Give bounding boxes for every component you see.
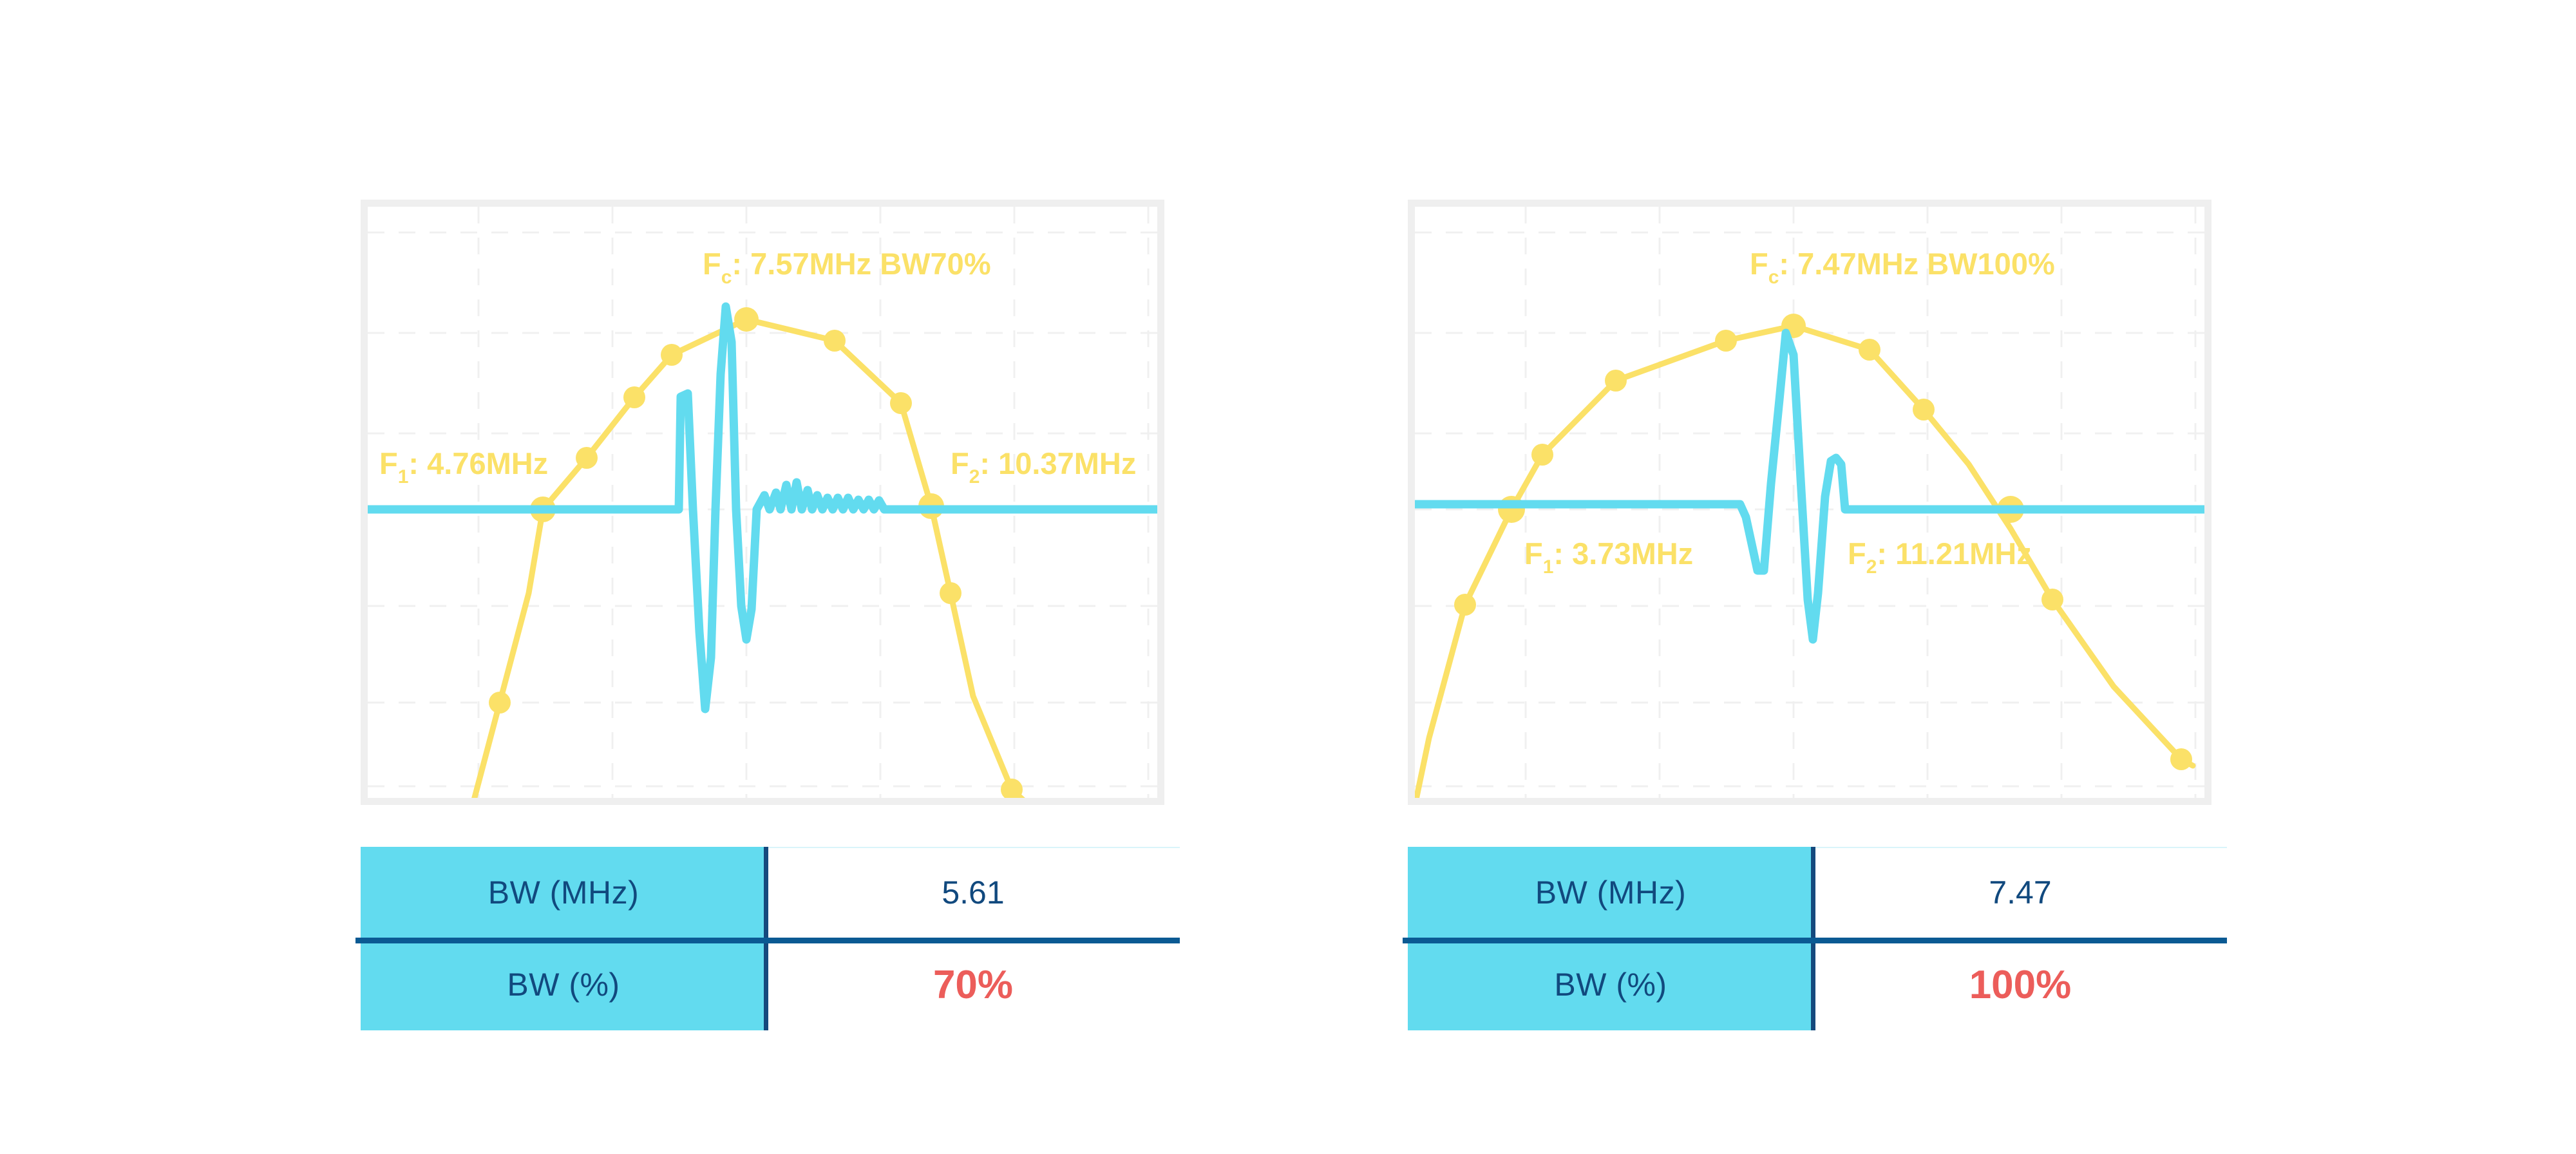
- bw-pct-value: 70%: [766, 939, 1180, 1030]
- pulse-waveform-left: [368, 307, 1157, 709]
- annotation-f2-left: F2: 10.37MHz: [951, 446, 1136, 487]
- chart-module-right: Fc: 7.47MHz BW100% F1: 3.73MHz F2: 11.21…: [1408, 200, 2227, 1030]
- table-middle-rule: [1403, 938, 2227, 943]
- table-row: BW (%) 70%: [361, 939, 1180, 1030]
- bw-pct-label: BW (%): [1408, 939, 1814, 1030]
- annotation-f1-right-sub: 1: [1543, 556, 1554, 578]
- spectrum-svg-left: Fc: 7.57MHz BW70% F1: 4.76MHz F2: 10.37M…: [368, 207, 1157, 798]
- bw-mhz-value: 7.47: [1814, 847, 2227, 938]
- table-row: BW (MHz) 7.47: [1408, 847, 2227, 938]
- bw-mhz-label: BW (MHz): [361, 847, 766, 938]
- bw-mhz-value: 5.61: [766, 847, 1180, 938]
- annotation-f2-right-sub: 2: [1866, 556, 1877, 578]
- table-middle-rule: [355, 938, 1180, 943]
- bw-table-right: BW (MHz) 7.47 BW (%) 100%: [1408, 847, 2227, 1030]
- annotation-f2-left-prefix: F: [951, 446, 969, 480]
- annotation-fc-left-sub: c: [721, 267, 732, 288]
- annotation-f2-left-sub: 2: [969, 466, 980, 487]
- bw-table-left: BW (MHz) 5.61 BW (%) 70%: [361, 847, 1180, 1030]
- annotation-f1-right-prefix: F: [1524, 536, 1543, 571]
- table-row: BW (MHz) 5.61: [361, 847, 1180, 938]
- spectrum-svg-right: Fc: 7.47MHz BW100% F1: 3.73MHz F2: 11.21…: [1415, 207, 2204, 798]
- chart-frame-right: Fc: 7.47MHz BW100% F1: 3.73MHz F2: 11.21…: [1408, 200, 2211, 805]
- annotation-f2-right: F2: 11.21MHz: [1848, 536, 2032, 578]
- chart-plot-left: Fc: 7.57MHz BW70% F1: 4.76MHz F2: 10.37M…: [368, 207, 1157, 798]
- bw-pct-label: BW (%): [361, 939, 766, 1030]
- annotation-fc-right: Fc: 7.47MHz BW100%: [1750, 247, 2055, 288]
- bw-pct-value: 100%: [1814, 939, 2227, 1030]
- annotation-f2-right-prefix: F: [1848, 536, 1866, 571]
- annotation-f1-left-sub: 1: [398, 466, 409, 487]
- annotation-f1-right: F1: 3.73MHz: [1524, 536, 1693, 578]
- annotation-fc-right-sub: c: [1768, 267, 1779, 288]
- table-row: BW (%) 100%: [1408, 939, 2227, 1030]
- pulse-waveform-right: [1415, 333, 2204, 639]
- chart-module-left: Fc: 7.57MHz BW70% F1: 4.76MHz F2: 10.37M…: [361, 200, 1180, 1030]
- annotation-fc-left-prefix: F: [703, 247, 721, 281]
- figure-root: Fc: 7.57MHz BW70% F1: 4.76MHz F2: 10.37M…: [0, 0, 2576, 1154]
- annotation-f1-left-prefix: F: [379, 446, 398, 480]
- annotation-fc-right-prefix: F: [1750, 247, 1768, 281]
- annotation-f1-left: F1: 4.76MHz: [379, 446, 548, 487]
- bw-mhz-label: BW (MHz): [1408, 847, 1814, 938]
- chart-frame-left: Fc: 7.57MHz BW70% F1: 4.76MHz F2: 10.37M…: [361, 200, 1164, 805]
- chart-plot-right: Fc: 7.47MHz BW100% F1: 3.73MHz F2: 11.21…: [1415, 207, 2204, 798]
